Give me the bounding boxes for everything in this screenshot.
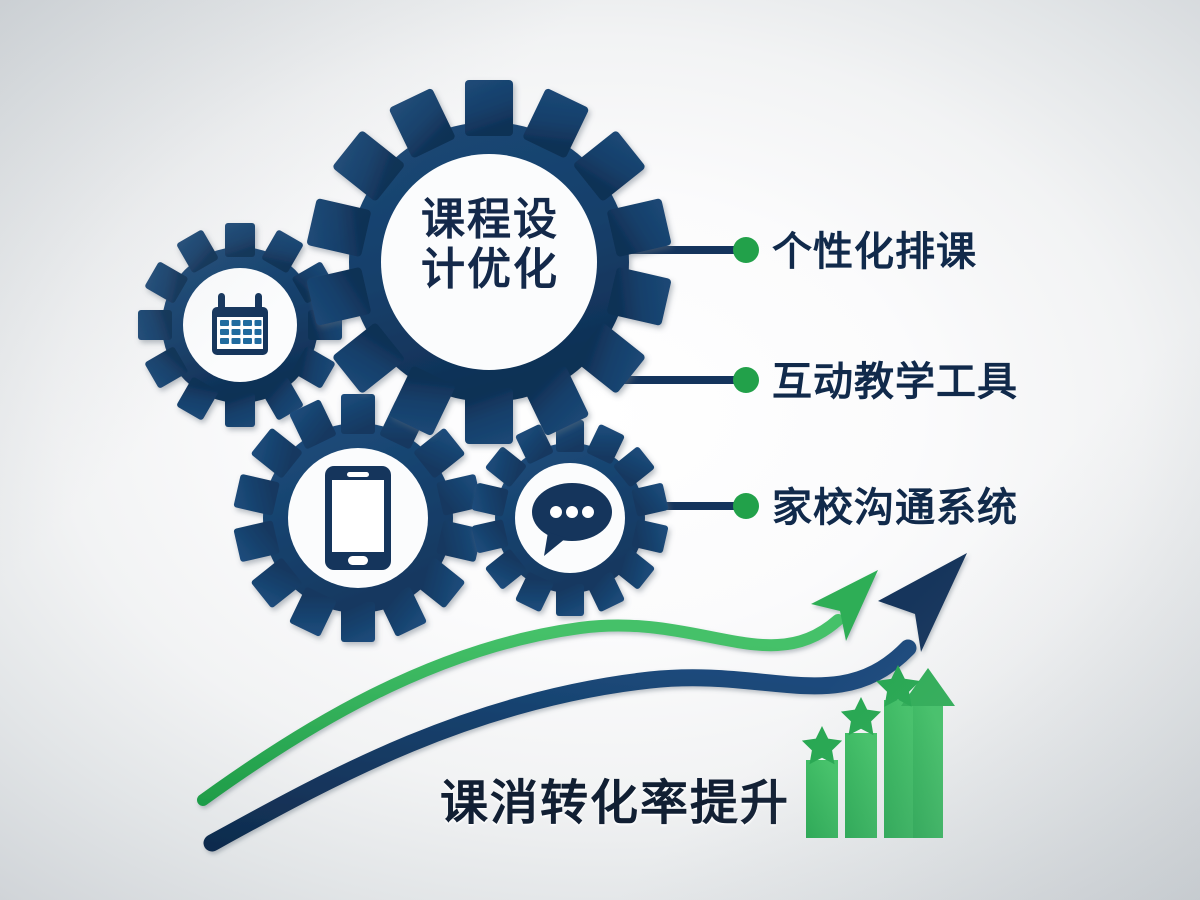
infographic-canvas: 课程设 计优化 个性化排课 互动教学工具 家校沟通系统 课消转化率提升 bbox=[0, 0, 1200, 900]
tablet-icon bbox=[325, 466, 391, 570]
bullet-dot-1 bbox=[733, 237, 759, 263]
bullet-dot-3 bbox=[733, 493, 759, 519]
bar-3 bbox=[884, 700, 916, 838]
feature-label-personalized-scheduling: 个性化排课 bbox=[772, 232, 977, 272]
headline-text: 课消转化率提升 bbox=[440, 780, 790, 828]
bar-2 bbox=[845, 733, 877, 838]
feature-label-interactive-teaching-tools: 互动教学工具 bbox=[772, 362, 1018, 402]
bullet-dot-2 bbox=[733, 367, 759, 393]
feature-label-home-school-communication: 家校沟通系统 bbox=[772, 488, 1018, 528]
graphics-layer bbox=[0, 0, 1200, 900]
bar-1 bbox=[806, 760, 838, 838]
gear-caption-line-1: 课程设 bbox=[370, 195, 610, 245]
star-icon-1 bbox=[802, 726, 842, 764]
star-icon-2 bbox=[841, 697, 881, 735]
gear-center-caption: 课程设 计优化 bbox=[370, 195, 610, 295]
gear-caption-line-2: 计优化 bbox=[370, 245, 610, 295]
